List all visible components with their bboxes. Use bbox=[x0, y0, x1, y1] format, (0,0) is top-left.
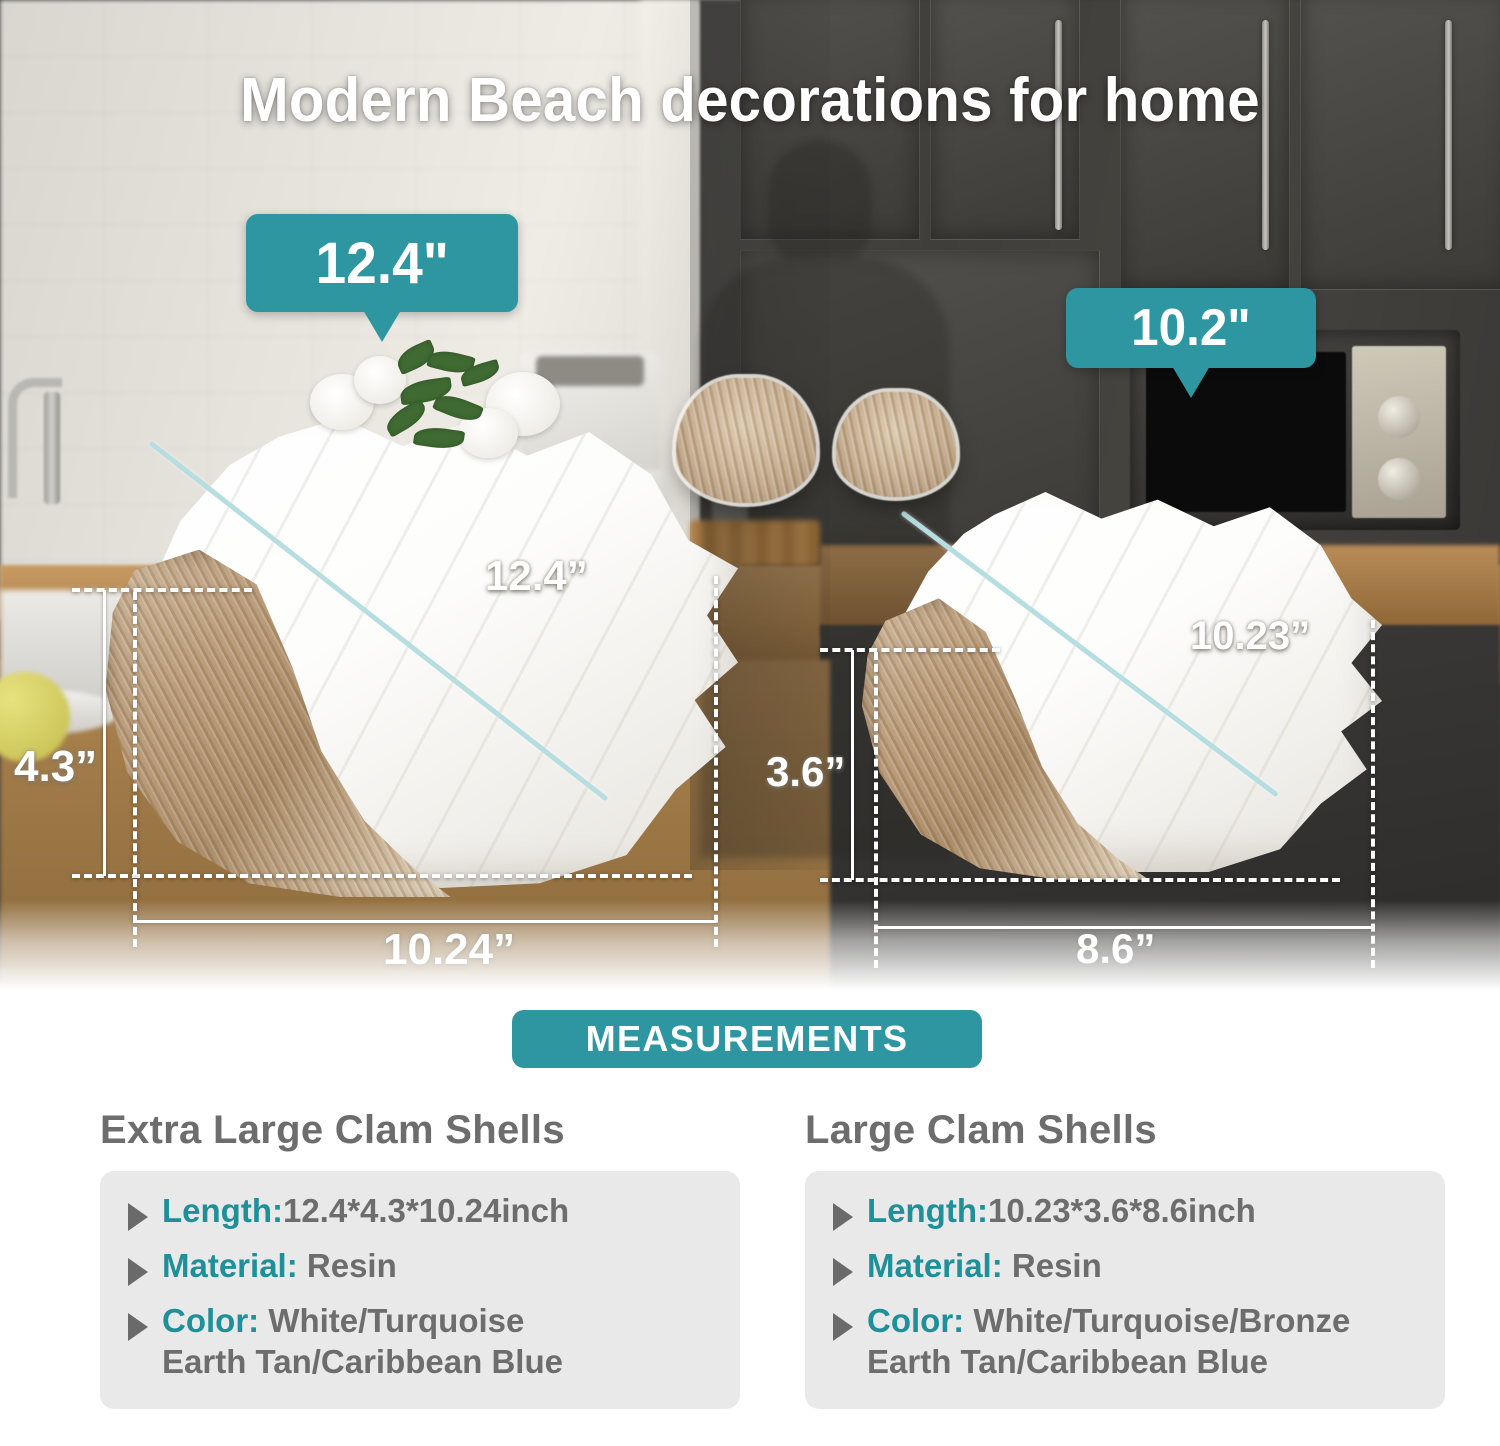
microwave-knob bbox=[1378, 396, 1420, 438]
spec-label-material: Material: bbox=[867, 1247, 1003, 1284]
callout-extra-large: 12.4" bbox=[246, 214, 518, 312]
xl-height-line bbox=[103, 590, 106, 876]
small-shell-back bbox=[676, 378, 816, 503]
measurements-badge: MEASUREMENTS bbox=[512, 1010, 982, 1068]
cabinet-handle bbox=[1445, 20, 1452, 250]
microwave-knob bbox=[1378, 458, 1420, 500]
triangle-bullet-icon bbox=[833, 1258, 853, 1286]
spec-value-material: Resin bbox=[1012, 1247, 1102, 1284]
cabinet-handle bbox=[1262, 20, 1269, 250]
spec-row-material: Material: Resin bbox=[124, 1246, 716, 1287]
triangle-bullet-icon bbox=[128, 1258, 148, 1286]
small-shell-back bbox=[836, 392, 956, 497]
triangle-bullet-icon bbox=[833, 1313, 853, 1341]
spec-label-color: Color: bbox=[867, 1302, 964, 1339]
l-height-label: 3.6” bbox=[766, 748, 845, 796]
xl-width-extension-left bbox=[133, 592, 137, 947]
infographic-page: 4.3” 10.24” 12.4” 3.6” 8.6” 10.23” 12.4"… bbox=[0, 0, 1500, 1446]
extra-large-clam-shell bbox=[118, 418, 738, 888]
callout-extra-large-value: 12.4" bbox=[315, 230, 448, 297]
spec-card-large: Length:10.23*3.6*8.6inch Material: Resin… bbox=[805, 1171, 1445, 1409]
spec-label-length: Length: bbox=[162, 1192, 283, 1229]
faucet-spout bbox=[44, 392, 60, 504]
l-height-extension-bottom bbox=[820, 878, 1340, 882]
spec-heading-large: Large Clam Shells bbox=[805, 1108, 1445, 1153]
spec-label-material: Material: bbox=[162, 1247, 298, 1284]
xl-height-extension-top bbox=[72, 588, 252, 592]
photo-bottom-fade bbox=[0, 900, 1500, 990]
xl-width-extension-right bbox=[714, 576, 718, 947]
spec-label-color: Color: bbox=[162, 1302, 259, 1339]
product-photo: 4.3” 10.24” 12.4” 3.6” 8.6” 10.23” 12.4"… bbox=[0, 0, 1500, 990]
spec-row-material: Material: Resin bbox=[829, 1246, 1421, 1287]
triangle-bullet-icon bbox=[128, 1313, 148, 1341]
spec-row-color: Color: White/Turquoise Earth Tan/Caribbe… bbox=[124, 1301, 716, 1383]
xl-diagonal-label: 12.4” bbox=[485, 552, 588, 600]
callout-large: 10.2" bbox=[1066, 288, 1316, 368]
spec-column-extra-large: Extra Large Clam Shells Length:12.4*4.3*… bbox=[100, 1108, 740, 1409]
cabinet-door bbox=[1300, 0, 1500, 290]
spec-row-length: Length:10.23*3.6*8.6inch bbox=[829, 1191, 1421, 1232]
triangle-bullet-icon bbox=[128, 1203, 148, 1231]
triangle-bullet-icon bbox=[833, 1203, 853, 1231]
l-height-line bbox=[851, 650, 854, 880]
spec-card-extra-large: Length:12.4*4.3*10.24inch Material: Resi… bbox=[100, 1171, 740, 1409]
l-diagonal-label: 10.23” bbox=[1190, 614, 1310, 659]
page-title: Modern Beach decorations for home bbox=[45, 68, 1455, 133]
spec-value-material: Resin bbox=[307, 1247, 397, 1284]
measurements-badge-label: MEASUREMENTS bbox=[586, 1018, 909, 1060]
spec-value-length: 10.23*3.6*8.6inch bbox=[988, 1192, 1256, 1229]
spec-column-large: Large Clam Shells Length:10.23*3.6*8.6in… bbox=[805, 1108, 1445, 1409]
callout-large-value: 10.2" bbox=[1131, 298, 1251, 358]
xl-height-extension-bottom bbox=[72, 874, 692, 878]
spec-value-length: 12.4*4.3*10.24inch bbox=[283, 1192, 569, 1229]
spec-label-length: Length: bbox=[867, 1192, 988, 1229]
spec-heading-extra-large: Extra Large Clam Shells bbox=[100, 1108, 740, 1153]
l-height-extension-top bbox=[820, 648, 1000, 652]
plant-arrangement bbox=[310, 346, 560, 466]
large-clam-shell bbox=[872, 492, 1382, 872]
spec-row-color: Color: White/Turquoise/Bronze Earth Tan/… bbox=[829, 1301, 1421, 1383]
xl-height-label: 4.3” bbox=[14, 742, 97, 792]
spec-row-length: Length:12.4*4.3*10.24inch bbox=[124, 1191, 716, 1232]
